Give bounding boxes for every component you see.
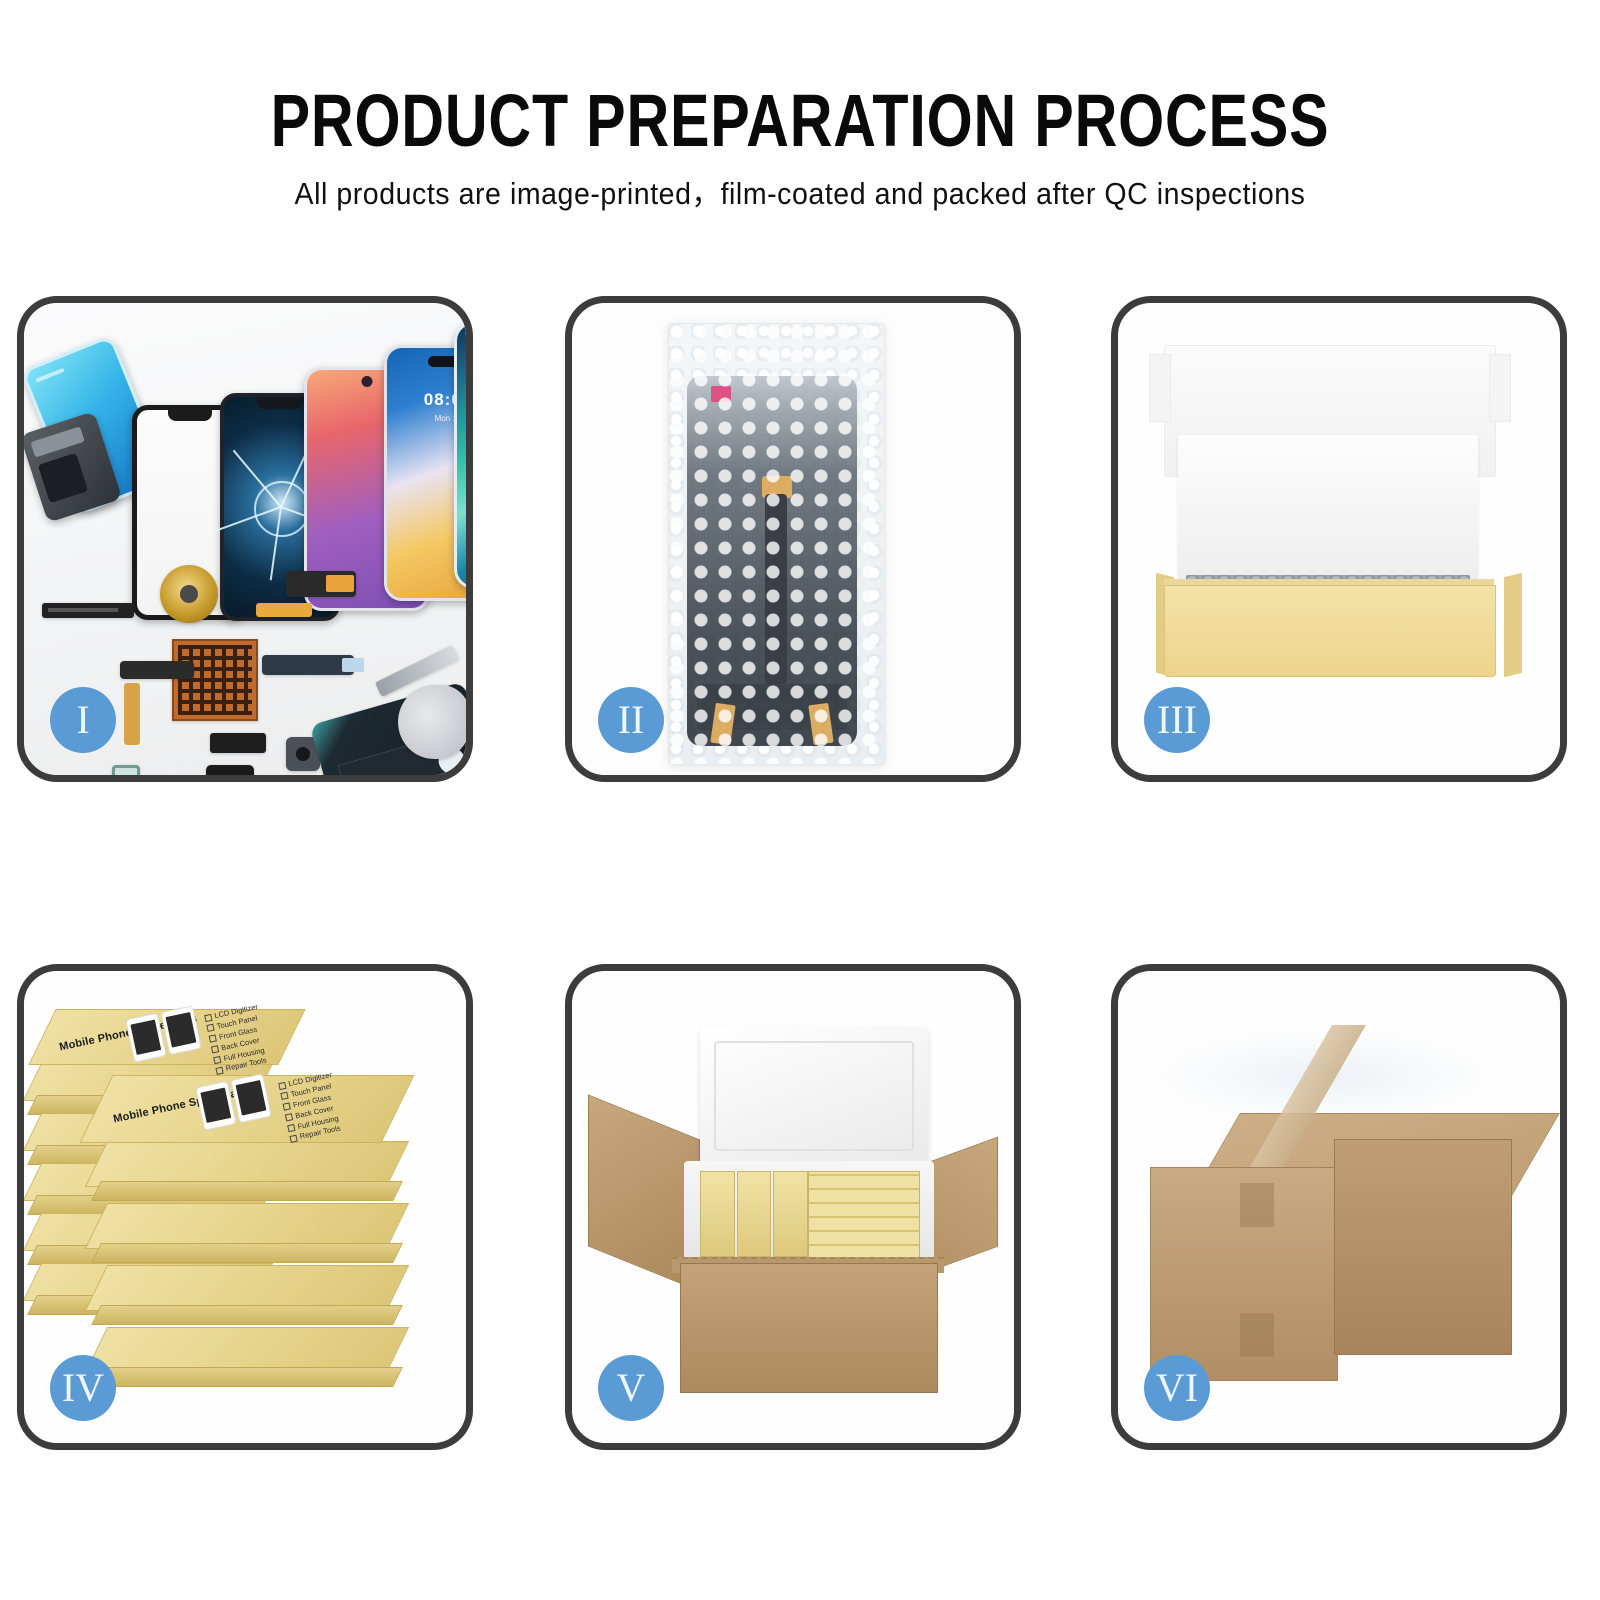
cleaning-brush-icon [398,685,466,759]
sim-tray-part-icon [112,765,140,775]
step-badge-2: II [598,687,664,753]
step-badge-1: I [50,687,116,753]
gold-boxes-stack-icon [808,1171,920,1259]
carton-face-right-icon [1334,1139,1512,1355]
teal-wave-phone-icon [454,321,466,589]
step-badge-4: IV [50,1355,116,1421]
step-panel-5[interactable]: V [565,964,1021,1450]
gold-flex-part-icon [256,603,312,617]
wireless-coil-part-icon [160,565,218,623]
gold-tab-left-icon [710,703,735,745]
notch-icon [257,397,303,409]
carton-body-icon [680,1263,938,1393]
lcd-assembly-icon [687,376,857,746]
step-panel-4[interactable]: Mobile Phone Spare Parts LCD Digitizer T… [17,964,473,1450]
step-panel-6[interactable]: VI [1111,964,1567,1450]
box-side-right-icon [1504,573,1522,677]
retail-box [96,1265,396,1309]
carton-flap-seam-icon [1240,1183,1274,1227]
step-badge-5: V [598,1355,664,1421]
speaker-strip-part-icon [42,603,134,618]
retail-box [96,1203,396,1247]
retail-box [96,1141,396,1185]
step-panel-1[interactable]: 08:08 Mon 12 I [17,296,473,782]
volume-flex-part-icon [262,655,354,675]
ic-chip-part-icon [172,639,258,721]
crack-ring-icon [254,481,310,537]
flex-cable-part-icon [286,571,356,597]
step-panel-3[interactable]: III [1111,296,1567,782]
chip-grid-icon [178,645,252,715]
carton-flap-seam-icon [1240,1313,1274,1357]
kraft-mailer-box-icon [1164,585,1496,677]
notch-icon [168,410,212,421]
step-badge-3: III [1144,687,1210,753]
loudspeaker-part-icon [206,765,254,775]
step-badge-6: VI [1144,1355,1210,1421]
small-module-part-icon [210,733,266,753]
foam-sheet-icon [1178,435,1478,585]
process-step-grid: 08:08 Mon 12 I [0,0,1600,1600]
step-panel-2[interactable]: II [565,296,1021,782]
pink-qc-label-icon [711,386,731,402]
retail-box [96,1327,396,1371]
flex-ribbon-icon [765,494,787,684]
bubble-wrap-bag-icon [668,323,885,765]
charging-port-part-icon [120,661,194,679]
foam-lid-icon [700,1027,928,1165]
